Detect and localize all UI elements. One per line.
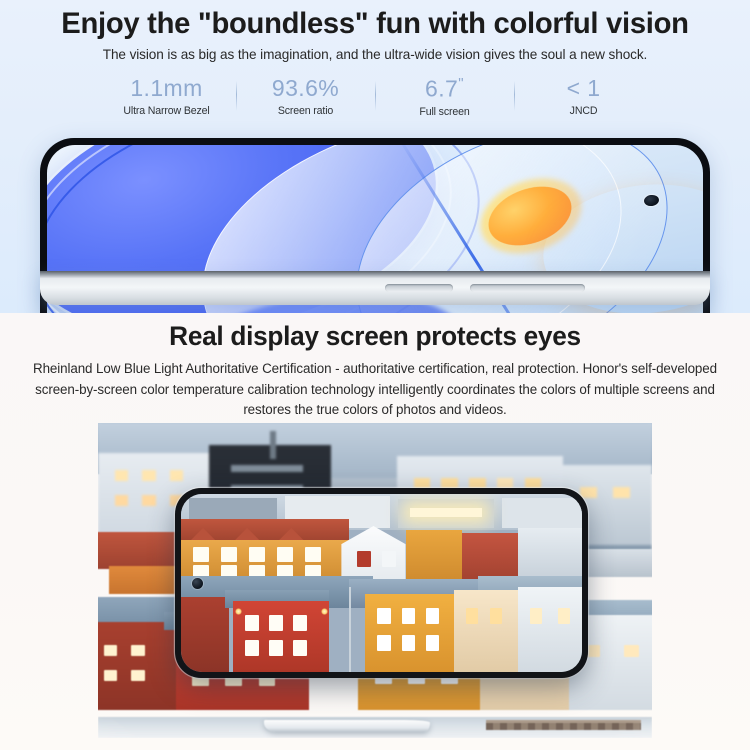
phone-bottom-bezel xyxy=(40,271,710,305)
phone-landscape-screen xyxy=(181,494,582,672)
section-boundless-vision: Enjoy the "boundless" fun with colorful … xyxy=(0,0,750,313)
phone-screen-photo xyxy=(181,494,582,672)
spec-value-number: 6.7 xyxy=(425,76,458,102)
speaker-grille-right xyxy=(470,284,585,292)
spec-value: 1.1mm xyxy=(98,75,236,101)
section2-paragraph: Rheinland Low Blue Light Authoritative C… xyxy=(25,359,725,421)
spec-row: 1.1mm Ultra Narrow Bezel 93.6% Screen ra… xyxy=(0,75,750,118)
spec-value: 6.7" xyxy=(376,75,514,102)
spec-value-unit: " xyxy=(458,75,464,92)
product-page: Enjoy the "boundless" fun with colorful … xyxy=(0,0,750,750)
section2-title: Real display screen protects eyes xyxy=(4,313,747,352)
spec-item-screen-ratio: 93.6% Screen ratio xyxy=(237,75,375,117)
phone-landscape-overlay xyxy=(175,488,588,678)
spec-label: Screen ratio xyxy=(237,105,375,117)
spec-item-bezel: 1.1mm Ultra Narrow Bezel xyxy=(98,75,236,117)
section1-title: Enjoy the "boundless" fun with colorful … xyxy=(4,0,747,40)
boat xyxy=(264,720,430,731)
section1-subtitle: The vision is as big as the imagination,… xyxy=(0,47,750,62)
spec-value: 93.6% xyxy=(237,75,375,101)
spec-item-full-screen: 6.7" Full screen xyxy=(376,75,514,118)
dock xyxy=(486,720,641,730)
front-camera-icon xyxy=(192,578,203,589)
spec-value: < 1 xyxy=(515,75,653,101)
spec-label: Full screen xyxy=(376,106,514,118)
spec-item-jncd: < 1 JNCD xyxy=(515,75,653,117)
spec-label: JNCD xyxy=(515,105,653,117)
spec-label: Ultra Narrow Bezel xyxy=(98,105,236,117)
speaker-grille-left xyxy=(385,284,453,292)
